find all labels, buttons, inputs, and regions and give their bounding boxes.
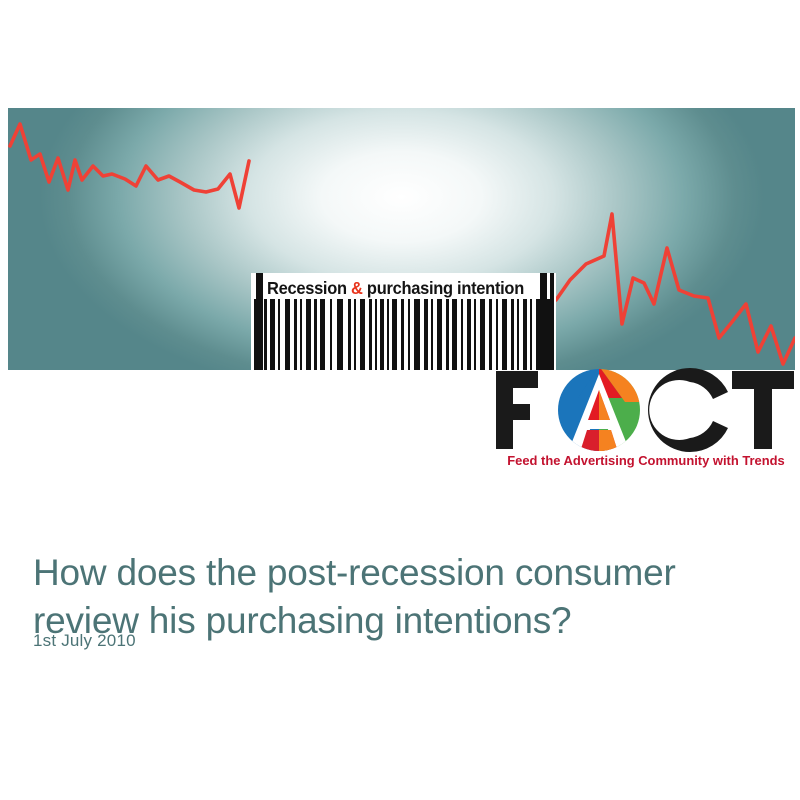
page-title-line-1: How does the post-recession consumer <box>33 552 676 593</box>
logo-letter-t <box>732 371 794 449</box>
logo-letter-f <box>496 371 538 449</box>
fact-logo-tagline: Feed the Advertising Community with Tren… <box>499 452 793 469</box>
trend-line-left <box>10 124 249 208</box>
presentation-date: 1st July 2010 <box>33 630 136 652</box>
barcode-graphic: Recession & purchasing intention <box>251 273 556 370</box>
page-title: How does the post-recession consumer rev… <box>33 549 773 645</box>
logo-letter-a-colorwheel <box>558 368 640 452</box>
logo-letter-c <box>648 368 728 452</box>
barcode-guard-bars <box>251 273 556 370</box>
page-title-line-2: review his purchasing intentions? <box>33 597 773 645</box>
trend-line-right <box>556 214 795 364</box>
fact-logo-mark <box>494 368 796 452</box>
fact-logo: Feed the Advertising Community with Tren… <box>494 368 796 478</box>
header-banner-image: Recession & purchasing intention <box>8 108 795 370</box>
